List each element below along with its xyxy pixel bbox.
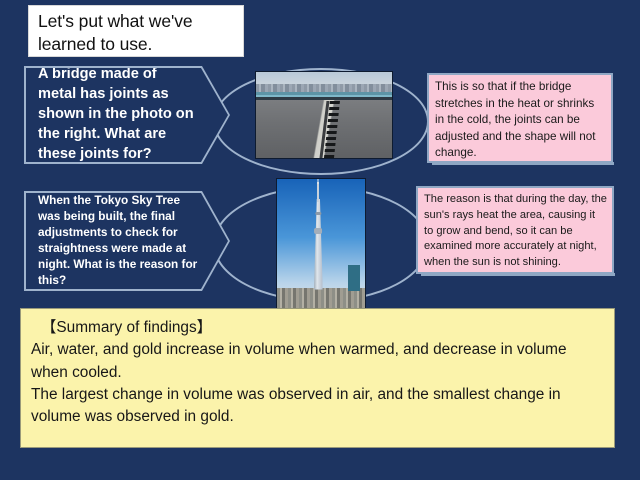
- answer-box-1: This is so that if the bridge stretches …: [427, 73, 613, 163]
- summary-line-1: Air, water, and gold increase in volume …: [31, 339, 604, 384]
- question-bubble-1-text: A bridge made of metal has joints as sho…: [26, 65, 228, 165]
- question-bubble-2-text: When the Tokyo Sky Tree was being built,…: [26, 193, 228, 289]
- photo-cityscape-region: [277, 288, 365, 309]
- question-bubble-1: A bridge made of metal has joints as sho…: [24, 66, 230, 164]
- summary-box: 【Summary of findings】 Air, water, and go…: [20, 308, 615, 448]
- photo-office-building: [348, 265, 359, 291]
- question-bubble-2-inner: When the Tokyo Sky Tree was being built,…: [26, 193, 228, 289]
- photo-tower-mast: [317, 182, 319, 203]
- photo-tower-tip: [318, 179, 319, 184]
- photo-skyline-region: [256, 84, 392, 92]
- photo-tower-lower-deck: [314, 228, 322, 233]
- bridge-expansion-joint-photo: [255, 71, 393, 159]
- summary-line-2: The largest change in volume was observe…: [31, 384, 604, 429]
- photo-tower-upper-deck: [316, 212, 321, 216]
- question-bubble-1-inner: A bridge made of metal has joints as sho…: [26, 68, 228, 162]
- page-title: Let's put what we've learned to use.: [28, 5, 244, 57]
- tokyo-sky-tree-photo: [276, 178, 366, 310]
- answer-box-2: The reason is that during the day, the s…: [416, 186, 614, 274]
- slide-canvas: Let's put what we've learned to use. A b…: [0, 0, 640, 480]
- summary-heading: 【Summary of findings】: [31, 317, 604, 339]
- question-bubble-2: When the Tokyo Sky Tree was being built,…: [24, 191, 230, 291]
